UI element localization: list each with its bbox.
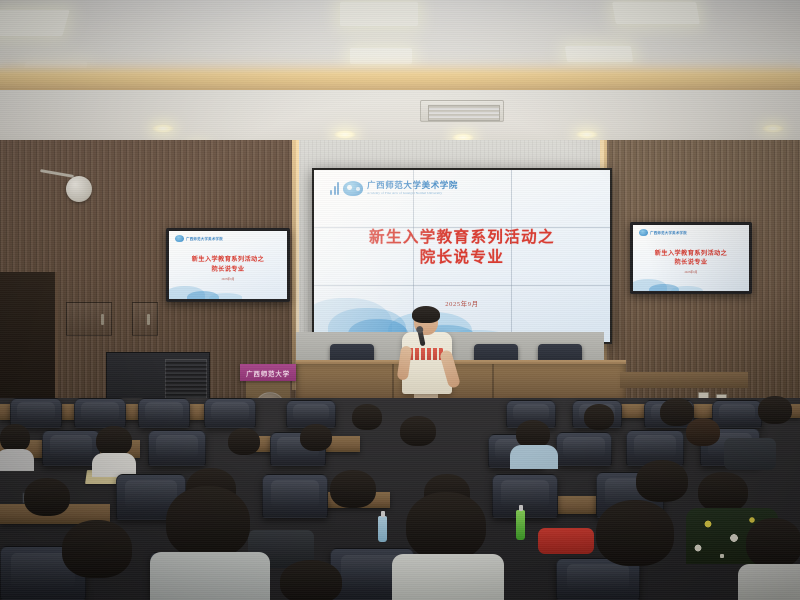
side-right-mountains xyxy=(633,271,705,291)
person-head xyxy=(352,404,382,430)
green-tea-bottle xyxy=(516,510,525,540)
person-head xyxy=(300,424,332,451)
side-left-mountains xyxy=(169,279,242,299)
side-monitor-left-surface: 广西师范大学美术学院 新生入学教育系列活动之 院长说专业 2025年9月 xyxy=(169,231,287,299)
side-left-logo: 广西师范大学美术学院 xyxy=(175,235,223,242)
ac-vent xyxy=(420,100,504,122)
side-monitor-right-surface: 广西师范大学美术学院 新生入学教育系列活动之 院长说专业 2025年9月 xyxy=(633,225,749,291)
side-left-title-line1: 新生入学教育系列活动之 xyxy=(169,255,287,264)
backpack xyxy=(724,438,776,470)
side-right-institution: 广西师范大学美术学院 xyxy=(650,230,687,235)
audience-person xyxy=(584,404,618,434)
wall-access-panel xyxy=(132,302,158,336)
lecture-hall-photo: 广西师范大学美术学院 Academy of Fine Arts of Guang… xyxy=(0,0,800,600)
audience-person xyxy=(280,560,346,600)
audience-person xyxy=(758,396,796,430)
person-head xyxy=(228,428,260,455)
side-right-logo: 广西师范大学美术学院 xyxy=(639,229,687,236)
audience-seat[interactable] xyxy=(204,398,256,428)
person-body xyxy=(0,449,34,471)
downlight xyxy=(762,124,784,133)
head-table xyxy=(296,360,626,400)
person-head xyxy=(0,424,30,452)
ceiling-panel-light xyxy=(340,2,418,26)
audience-person xyxy=(746,518,800,600)
downlight xyxy=(334,130,356,139)
side-desk-right xyxy=(620,372,748,388)
person-head xyxy=(596,500,674,566)
side-left-title-line2: 院长说专业 xyxy=(169,265,287,274)
person-head xyxy=(166,486,250,558)
presenter-hair xyxy=(412,306,440,323)
person-head xyxy=(758,396,792,424)
person-head xyxy=(96,426,132,456)
person-head xyxy=(24,478,70,516)
person-head xyxy=(406,492,486,560)
person-head xyxy=(400,416,436,446)
person-head xyxy=(636,460,688,502)
lectern-sign-text: 广西师范大学 xyxy=(246,368,290,378)
cove-light-strip xyxy=(0,68,800,92)
audience-seat[interactable] xyxy=(74,398,126,428)
person-head xyxy=(280,560,342,600)
audience-person xyxy=(686,418,724,462)
person-head xyxy=(516,420,550,448)
logo-mark-icon xyxy=(639,229,648,236)
side-left-title: 新生入学教育系列活动之 院长说专业 xyxy=(169,255,287,274)
audience-person xyxy=(406,492,492,600)
person-head xyxy=(686,418,720,446)
side-right-title: 新生入学教育系列活动之 院长说专业 xyxy=(633,249,749,268)
person-body xyxy=(150,552,270,600)
screen-glare xyxy=(314,170,610,342)
downlight xyxy=(576,130,598,139)
person-body xyxy=(392,554,504,600)
wall-speaker-icon xyxy=(66,176,92,202)
ceiling-panel-light xyxy=(612,2,700,24)
slide-surface: 广西师范大学美术学院 Academy of Fine Arts of Guang… xyxy=(314,170,610,342)
audience-person xyxy=(228,428,264,468)
logo-mark-icon xyxy=(175,235,184,242)
audience-person xyxy=(96,426,136,470)
audience-seat[interactable] xyxy=(148,430,206,466)
wall-access-panel xyxy=(66,302,112,336)
table-seam xyxy=(392,360,394,400)
audience-person xyxy=(400,416,440,462)
side-monitor-right[interactable]: 广西师范大学美术学院 新生入学教育系列活动之 院长说专业 2025年9月 xyxy=(630,222,752,294)
table-seam xyxy=(492,360,494,400)
person-head xyxy=(584,404,614,430)
main-presentation-screen[interactable]: 广西师范大学美术学院 Academy of Fine Arts of Guang… xyxy=(312,168,612,344)
audience-person xyxy=(166,486,256,600)
person-head xyxy=(330,470,376,508)
side-right-title-line2: 院长说专业 xyxy=(633,258,749,267)
audience-person xyxy=(352,404,386,434)
audience-person xyxy=(516,420,554,464)
person-body xyxy=(510,445,558,469)
side-monitor-left[interactable]: 广西师范大学美术学院 新生入学教育系列活动之 院长说专业 2025年9月 xyxy=(166,228,290,302)
audience-person xyxy=(0,424,34,466)
red-bag xyxy=(538,528,594,554)
side-left-institution: 广西师范大学美术学院 xyxy=(186,236,223,241)
lectern-sign: 广西师范大学 xyxy=(240,364,296,381)
audience-seat[interactable] xyxy=(556,432,612,466)
person-head xyxy=(746,518,800,568)
audience-person xyxy=(330,470,382,532)
person-head xyxy=(698,472,748,512)
audience-person xyxy=(62,520,138,600)
downlight xyxy=(152,124,174,133)
person-body xyxy=(738,564,800,600)
side-right-title-line1: 新生入学教育系列活动之 xyxy=(633,249,749,258)
audience-seat[interactable] xyxy=(138,398,190,428)
audience-seat[interactable] xyxy=(262,474,328,518)
audience-seat[interactable] xyxy=(492,474,558,518)
ceiling-panel-light xyxy=(0,10,70,36)
audience-person xyxy=(596,500,680,600)
presenter-shirt-print xyxy=(409,348,443,360)
ceiling-panel-light xyxy=(565,46,633,62)
person-head xyxy=(62,520,132,578)
audience-person xyxy=(300,424,336,464)
